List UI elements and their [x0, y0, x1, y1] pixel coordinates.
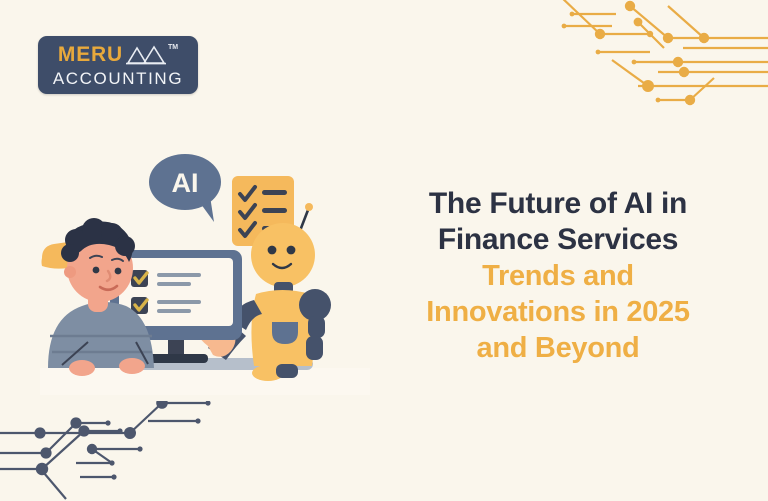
circuit-decoration-bottom-left: [0, 401, 240, 501]
headline-line-1: The Future of AI in: [388, 186, 728, 222]
ai-bubble-label: AI: [172, 168, 199, 198]
logo-sub-name: ACCOUNTING: [53, 69, 183, 89]
banner-canvas: MERU TM ACCOUNTING AI: [0, 0, 768, 501]
circuit-decoration-top-right: [538, 0, 768, 115]
person-eye: [93, 267, 100, 274]
person-hand: [69, 360, 95, 376]
mountain-icon: [126, 45, 166, 65]
robot-eye: [268, 246, 277, 255]
headline-block: The Future of AI in Finance Services Tre…: [388, 186, 728, 366]
person-eye: [115, 268, 122, 275]
ai-speech-bubble: AI: [149, 154, 221, 222]
meru-accounting-logo[interactable]: MERU TM ACCOUNTING: [38, 36, 198, 94]
person-hand: [119, 358, 145, 374]
headline-line-3: Trends and: [388, 258, 728, 294]
logo-brand-name: MERU: [58, 44, 123, 66]
headline-line-5: and Beyond: [388, 330, 728, 366]
headline-line-4: Innovations in 2025: [388, 294, 728, 330]
headline-line-2: Finance Services: [388, 222, 728, 258]
robot-head: [251, 223, 315, 287]
robot-eye: [287, 246, 296, 255]
logo-top-row: MERU TM: [51, 44, 185, 68]
trademark-symbol: TM: [168, 44, 178, 51]
ai-finance-illustration: AI: [40, 140, 370, 395]
